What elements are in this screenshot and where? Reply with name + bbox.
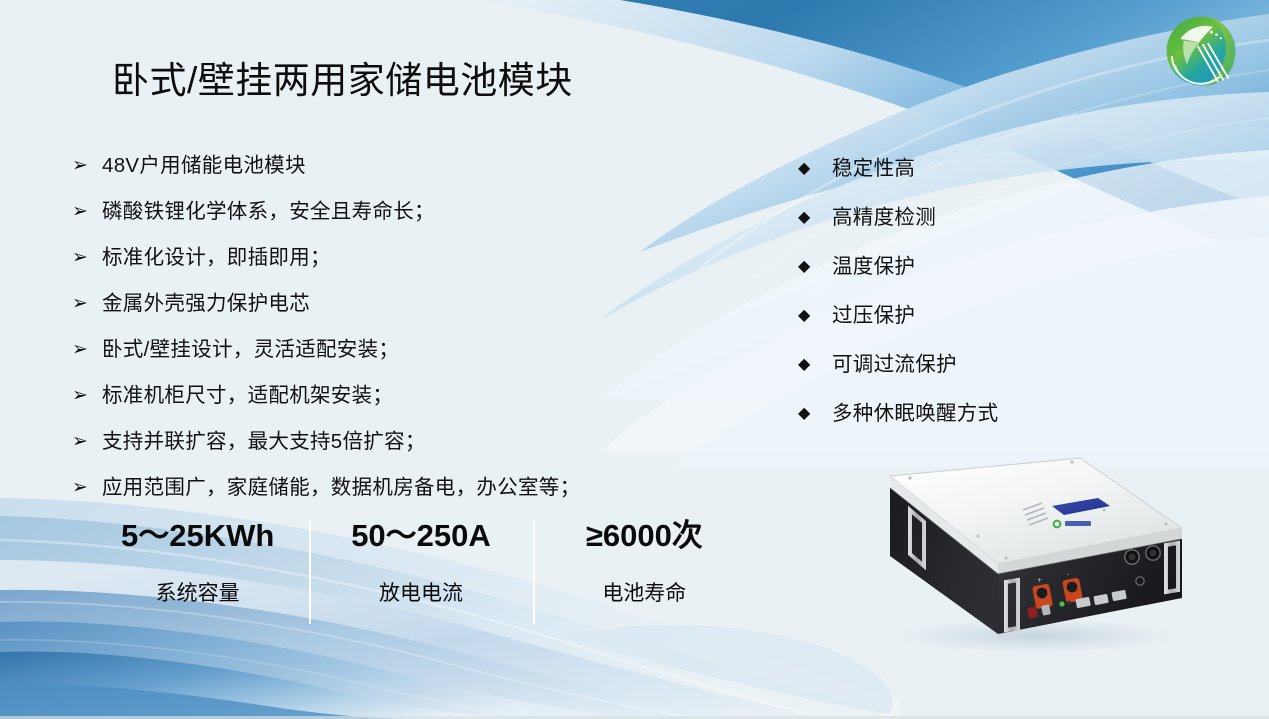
arrow-bullet-icon: ➢: [72, 198, 102, 225]
list-item: ➢ 金属外壳强力保护电芯: [72, 290, 712, 317]
svg-text:-: -: [1067, 571, 1069, 578]
features-right-column: ◆ 稳定性高 ◆ 高精度检测 ◆ 温度保护 ◆ 过压保护 ◆ 可调过流保护 ◆ …: [798, 155, 1128, 449]
arrow-bullet-icon: ➢: [72, 428, 102, 455]
arrow-bullet-icon: ➢: [72, 336, 102, 363]
list-item: ➢ 支持并联扩容，最大支持5倍扩容；: [72, 428, 712, 455]
key-specs-strip: 5～25KWh 系统容量 50～250A 放电电流 ≥6000次 电池寿命: [86, 516, 756, 628]
spec-value: 5～25KWh: [86, 516, 309, 556]
diamond-bullet-icon: ◆: [798, 400, 832, 427]
spec-label: 系统容量: [86, 580, 309, 608]
list-item: ➢ 标准化设计，即插即用；: [72, 244, 712, 271]
list-item: ◆ 稳定性高: [798, 155, 1128, 182]
list-item: ◆ 温度保护: [798, 253, 1128, 280]
diamond-bullet-icon: ◆: [798, 253, 832, 280]
list-item-label: 高精度检测: [832, 204, 936, 231]
diamond-bullet-icon: ◆: [798, 302, 832, 329]
svg-text:+: +: [1037, 577, 1042, 584]
list-item-label: 标准化设计，即插即用；: [102, 244, 331, 271]
list-item: ◆ 可调过流保护: [798, 351, 1128, 378]
diamond-bullet-icon: ◆: [798, 351, 832, 378]
arrow-bullet-icon: ➢: [72, 152, 102, 179]
list-item: ➢ 48V户用储能电池模块: [72, 152, 712, 179]
page-title: 卧式/壁挂两用家储电池模块: [112, 56, 573, 106]
list-item: ◆ 多种休眠唤醒方式: [798, 400, 1128, 427]
features-left-column: ➢ 48V户用储能电池模块 ➢ 磷酸铁锂化学体系，安全且寿命长； ➢ 标准化设计…: [72, 152, 712, 520]
list-item-label: 应用范围广，家庭储能，数据机房备电，办公室等；: [102, 474, 580, 501]
list-item-label: 磷酸铁锂化学体系，安全且寿命长；: [102, 198, 435, 225]
list-item-label: 48V户用储能电池模块: [102, 152, 306, 179]
battery-module-photo: + -: [866, 452, 1188, 657]
spec-cycle-life: ≥6000次 电池寿命: [533, 516, 756, 628]
list-item-label: 支持并联扩容，最大支持5倍扩容；: [102, 428, 426, 455]
list-item-label: 过压保护: [832, 302, 915, 329]
list-item: ➢ 卧式/壁挂设计，灵活适配安装；: [72, 336, 712, 363]
spec-value: 50～250A: [309, 516, 532, 556]
arrow-bullet-icon: ➢: [72, 244, 102, 271]
diamond-bullet-icon: ◆: [798, 155, 832, 182]
slide-canvas: 卧式/壁挂两用家储电池模块 ➢ 48V户用储能电池模块 ➢ 磷酸铁锂化学体系，安…: [0, 0, 1269, 719]
list-item-label: 多种休眠唤醒方式: [832, 400, 998, 427]
arrow-bullet-icon: ➢: [72, 290, 102, 317]
list-item-label: 温度保护: [832, 253, 915, 280]
list-item: ◆ 高精度检测: [798, 204, 1128, 231]
list-item-label: 金属外壳强力保护电芯: [102, 290, 310, 317]
diamond-bullet-icon: ◆: [798, 204, 832, 231]
list-item: ➢ 标准机柜尺寸，适配机架安装；: [72, 382, 712, 409]
spec-value: ≥6000次: [533, 516, 756, 556]
list-item-label: 稳定性高: [832, 155, 915, 182]
arrow-bullet-icon: ➢: [72, 474, 102, 501]
spec-label: 电池寿命: [533, 580, 756, 608]
list-item: ➢ 应用范围广，家庭储能，数据机房备电，办公室等；: [72, 474, 712, 501]
list-item: ➢ 磷酸铁锂化学体系，安全且寿命长；: [72, 198, 712, 225]
arrow-bullet-icon: ➢: [72, 382, 102, 409]
list-item-label: 可调过流保护: [832, 351, 957, 378]
list-item: ◆ 过压保护: [798, 302, 1128, 329]
spec-discharge-current: 50～250A 放电电流: [309, 516, 532, 628]
list-item-label: 标准机柜尺寸，适配机架安装；: [102, 382, 393, 409]
spec-label: 放电电流: [309, 580, 532, 608]
spec-capacity: 5～25KWh 系统容量: [86, 516, 309, 628]
list-item-label: 卧式/壁挂设计，灵活适配安装；: [102, 336, 399, 363]
company-logo-icon: [1158, 8, 1244, 94]
